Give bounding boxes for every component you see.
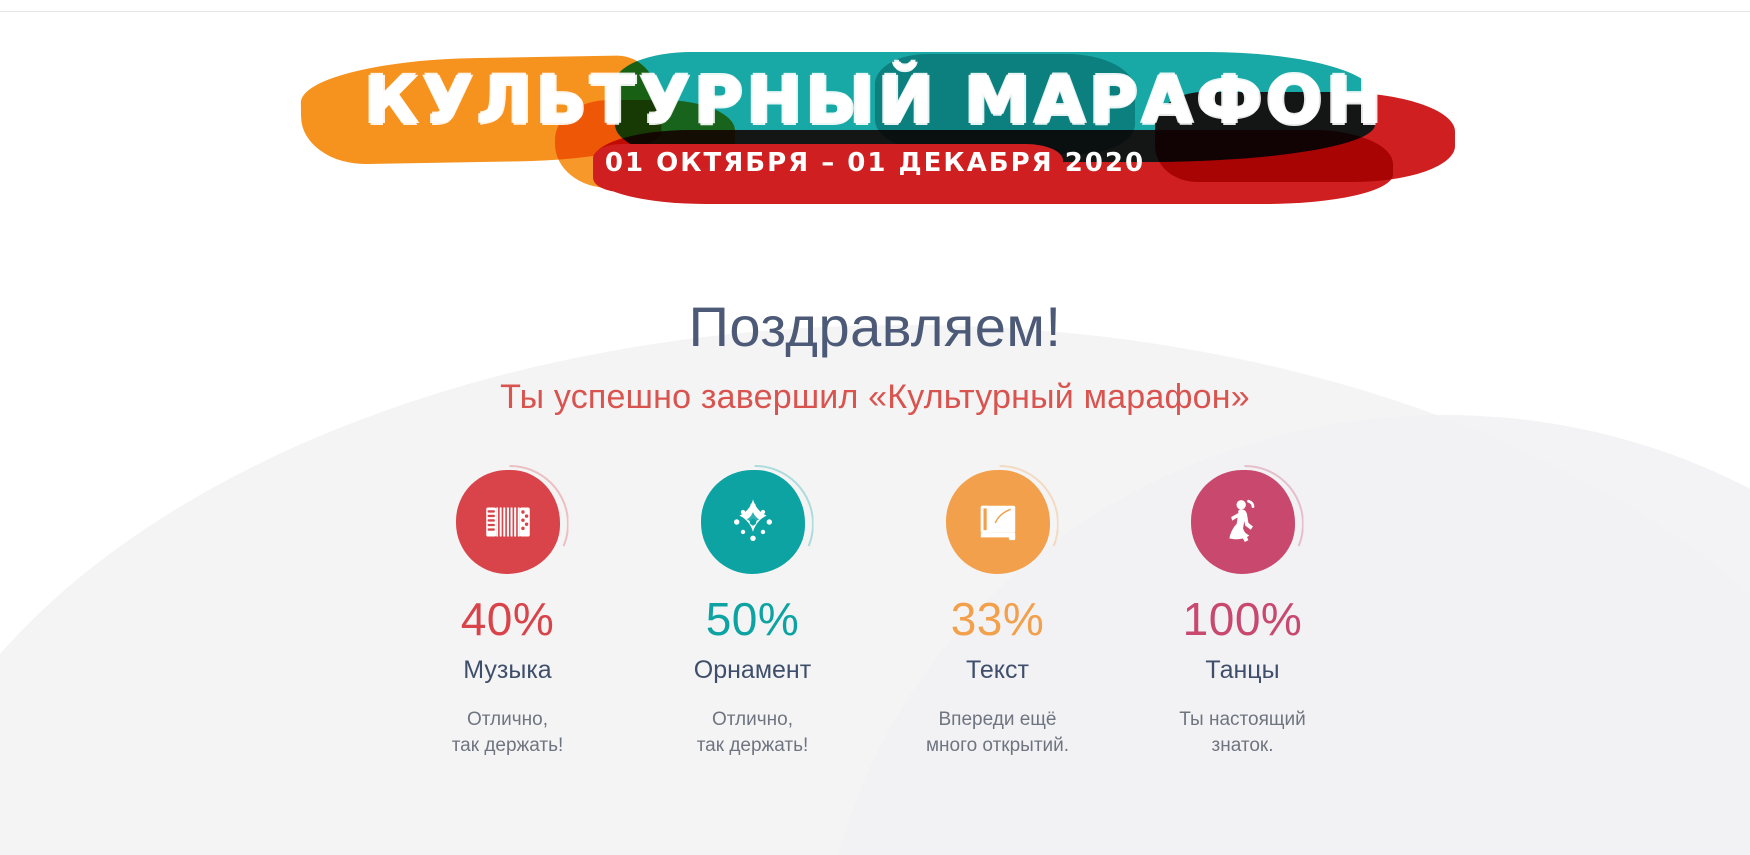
percent-value: 50% [706,596,800,642]
logo-dates-text: 01 ОКТЯБРЯ – 01 ДЕКАБРЯ 2020 [275,148,1475,178]
category-name: Музыка [463,656,551,685]
dancer-icon [1214,493,1272,551]
result-card-music: 40% Музыка Отлично, так держать! [385,470,630,759]
category-description: Отлично, так держать! [452,707,564,759]
result-page: КУЛЬТУРНЫЙ МАРАФОН 01 ОКТЯБРЯ – 01 ДЕКАБ… [0,0,1750,855]
percent-value: 33% [951,596,1045,642]
page-title: Поздравляем! [0,294,1750,359]
category-description: Отлично, так держать! [697,707,809,759]
badge-text [946,470,1050,574]
percent-value: 40% [461,596,555,642]
category-name: Танцы [1205,656,1279,685]
result-card-ornament: 50% Орнамент Отлично, так держать! [630,470,875,759]
accordion-icon [479,493,537,551]
marathon-logo: КУЛЬТУРНЫЙ МАРАФОН 01 ОКТЯБРЯ – 01 ДЕКАБ… [0,48,1750,208]
badge-ornament [701,470,805,574]
ornament-diamond-icon [724,493,782,551]
category-description: Ты настоящий знаток. [1179,707,1305,759]
scroll-quill-icon [969,493,1027,551]
result-card-text: 33% Текст Впереди ещё много открытий. [875,470,1120,759]
page-subtitle: Ты успешно завершил «Культурный марафон» [0,378,1750,417]
category-name: Орнамент [694,656,811,685]
badge-dance [1191,470,1295,574]
result-card-dance: 100% Танцы Ты настоящий знаток. [1120,470,1365,759]
badge-music [456,470,560,574]
category-description: Впереди ещё много открытий. [926,707,1069,759]
category-name: Текст [966,656,1029,685]
logo-title-text: КУЛЬТУРНЫЙ МАРАФОН [275,62,1475,139]
results-row: 40% Музыка Отлично, так держать! [0,470,1750,759]
percent-value: 100% [1183,596,1303,642]
